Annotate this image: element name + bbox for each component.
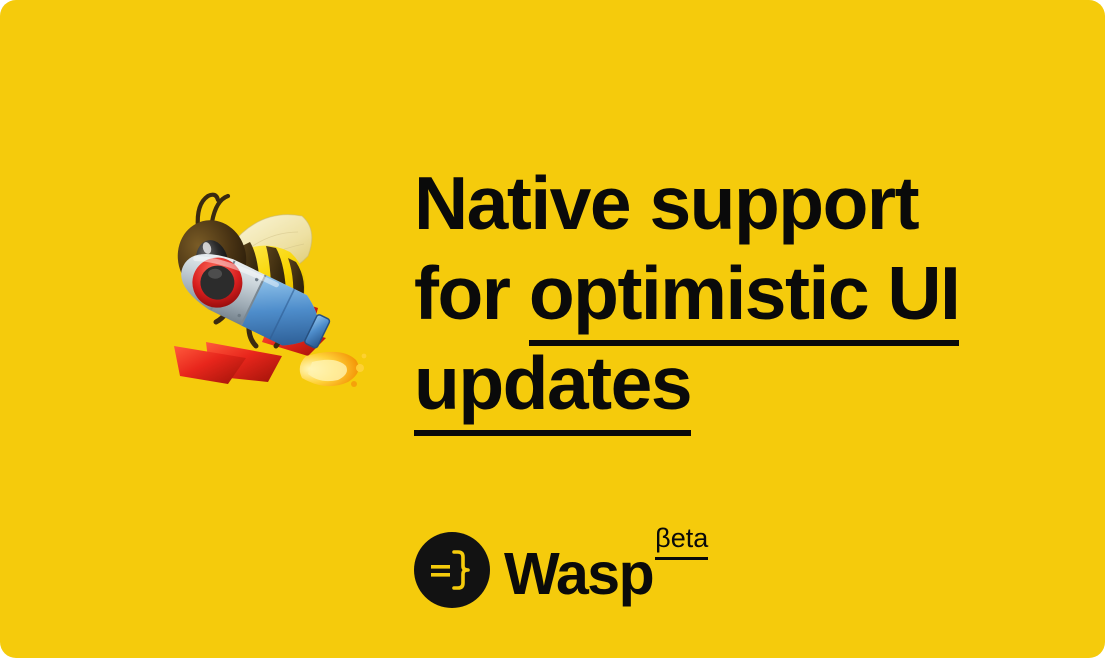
headline-line-2: for optimistic UI (414, 248, 1014, 338)
headline-line-3: updates (414, 338, 1014, 428)
headline-line-2-plain: for (414, 251, 529, 335)
wasp-wordmark: Waspβeta (504, 545, 708, 604)
wasp-logo-lockup: Waspβeta (414, 530, 708, 610)
page-title: Native support for optimistic UI updates (414, 158, 1014, 428)
beta-badge: βeta (655, 523, 708, 560)
bee-riding-rocket-illustration (150, 170, 370, 410)
headline-line-2-underlined: optimistic UI (529, 251, 960, 346)
headline-line-3-underlined: updates (414, 341, 691, 436)
wasp-equals-brace-logo-icon (414, 532, 490, 608)
promo-card: Native support for optimistic UI updates… (0, 0, 1105, 658)
headline-line-1: Native support (414, 158, 1014, 248)
